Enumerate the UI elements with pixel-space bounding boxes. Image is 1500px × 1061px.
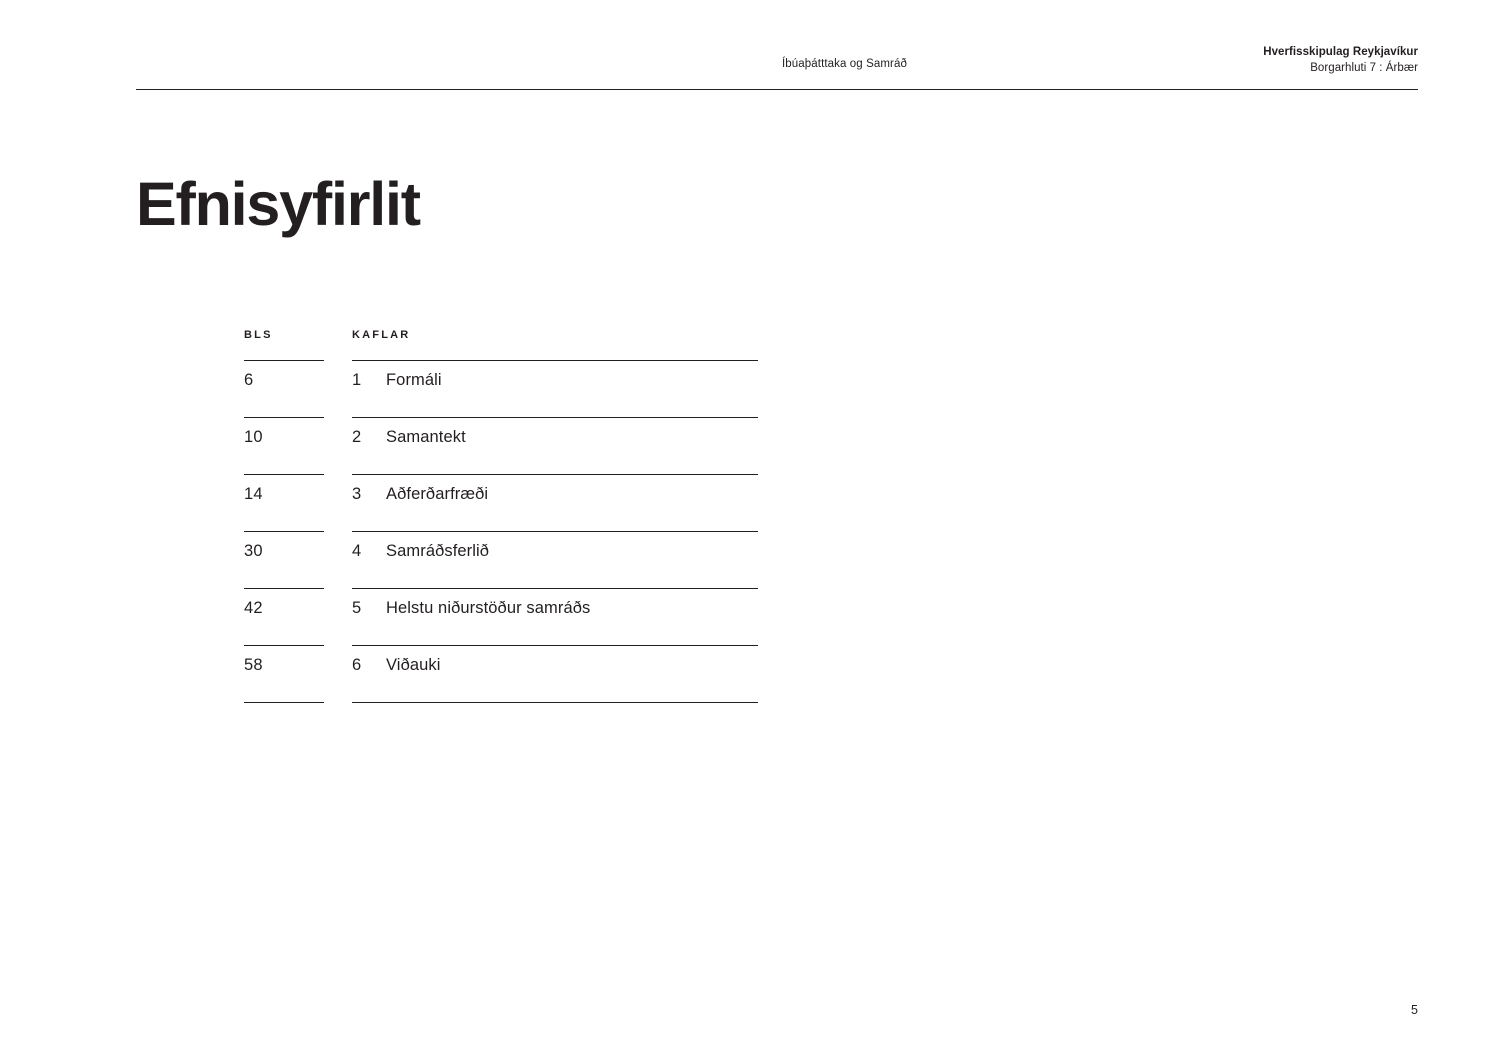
toc-entry-title: Aðferðarfræði	[386, 485, 488, 504]
header-document-identity: Hverfisskipulag Reykjavíkur Borgarhluti …	[1263, 45, 1418, 76]
toc-entry-row[interactable]: 42 5 Helstu niðurstöður samráðs	[244, 588, 758, 645]
toc-entry-title: Helstu niðurstöður samráðs	[386, 599, 590, 618]
toc-entry-title: Formáli	[386, 371, 442, 390]
header-plan-name: Hverfisskipulag Reykjavíkur	[1263, 45, 1418, 61]
toc-entry-number: 6	[352, 656, 386, 675]
toc-header-row: BLS KAFLAR	[244, 325, 758, 360]
toc-entry-page: 58	[244, 656, 263, 675]
toc-entry-title: Samantekt	[386, 428, 466, 447]
toc-entry-number: 2	[352, 428, 386, 447]
toc-entry-title: Samráðsferlið	[386, 542, 489, 561]
running-header: Íbúaþátttaka og Samráð Hverfisskipulag R…	[136, 40, 1418, 88]
toc-entry-number: 3	[352, 485, 386, 504]
toc-entry-page: 42	[244, 599, 263, 618]
header-document-subject: Íbúaþátttaka og Samráð	[782, 58, 907, 70]
toc-entry-page: 14	[244, 485, 263, 504]
toc-entry-page: 6	[244, 371, 253, 390]
page-title: Efnisyfirlit	[136, 174, 420, 235]
toc-entry-number: 4	[352, 542, 386, 561]
toc-entry-row[interactable]: 30 4 Samráðsferlið	[244, 531, 758, 588]
header-divider-rule	[136, 89, 1418, 90]
page-number-folio: 5	[1411, 1003, 1418, 1017]
toc-entry-row[interactable]: 14 3 Aðferðarfræði	[244, 474, 758, 531]
toc-column-header-page: BLS	[244, 325, 324, 341]
toc-entry-row[interactable]: 6 1 Formáli	[244, 360, 758, 417]
toc-entry-number: 1	[352, 371, 386, 390]
header-district-name: Borgarhluti 7 : Árbær	[1263, 61, 1418, 77]
toc-rule-page	[244, 702, 324, 703]
table-of-contents: BLS KAFLAR 6 1 Formáli 10	[244, 325, 758, 702]
toc-entry-number: 5	[352, 599, 386, 618]
toc-column-header-chapters: KAFLAR	[352, 325, 758, 341]
toc-entry-row[interactable]: 10 2 Samantekt	[244, 417, 758, 474]
toc-entry-row[interactable]: 58 6 Viðauki	[244, 645, 758, 702]
toc-entry-page: 10	[244, 428, 263, 447]
toc-entry-title: Viðauki	[386, 656, 441, 675]
toc-rule-chapter	[352, 702, 758, 703]
toc-entry-page: 30	[244, 542, 263, 561]
